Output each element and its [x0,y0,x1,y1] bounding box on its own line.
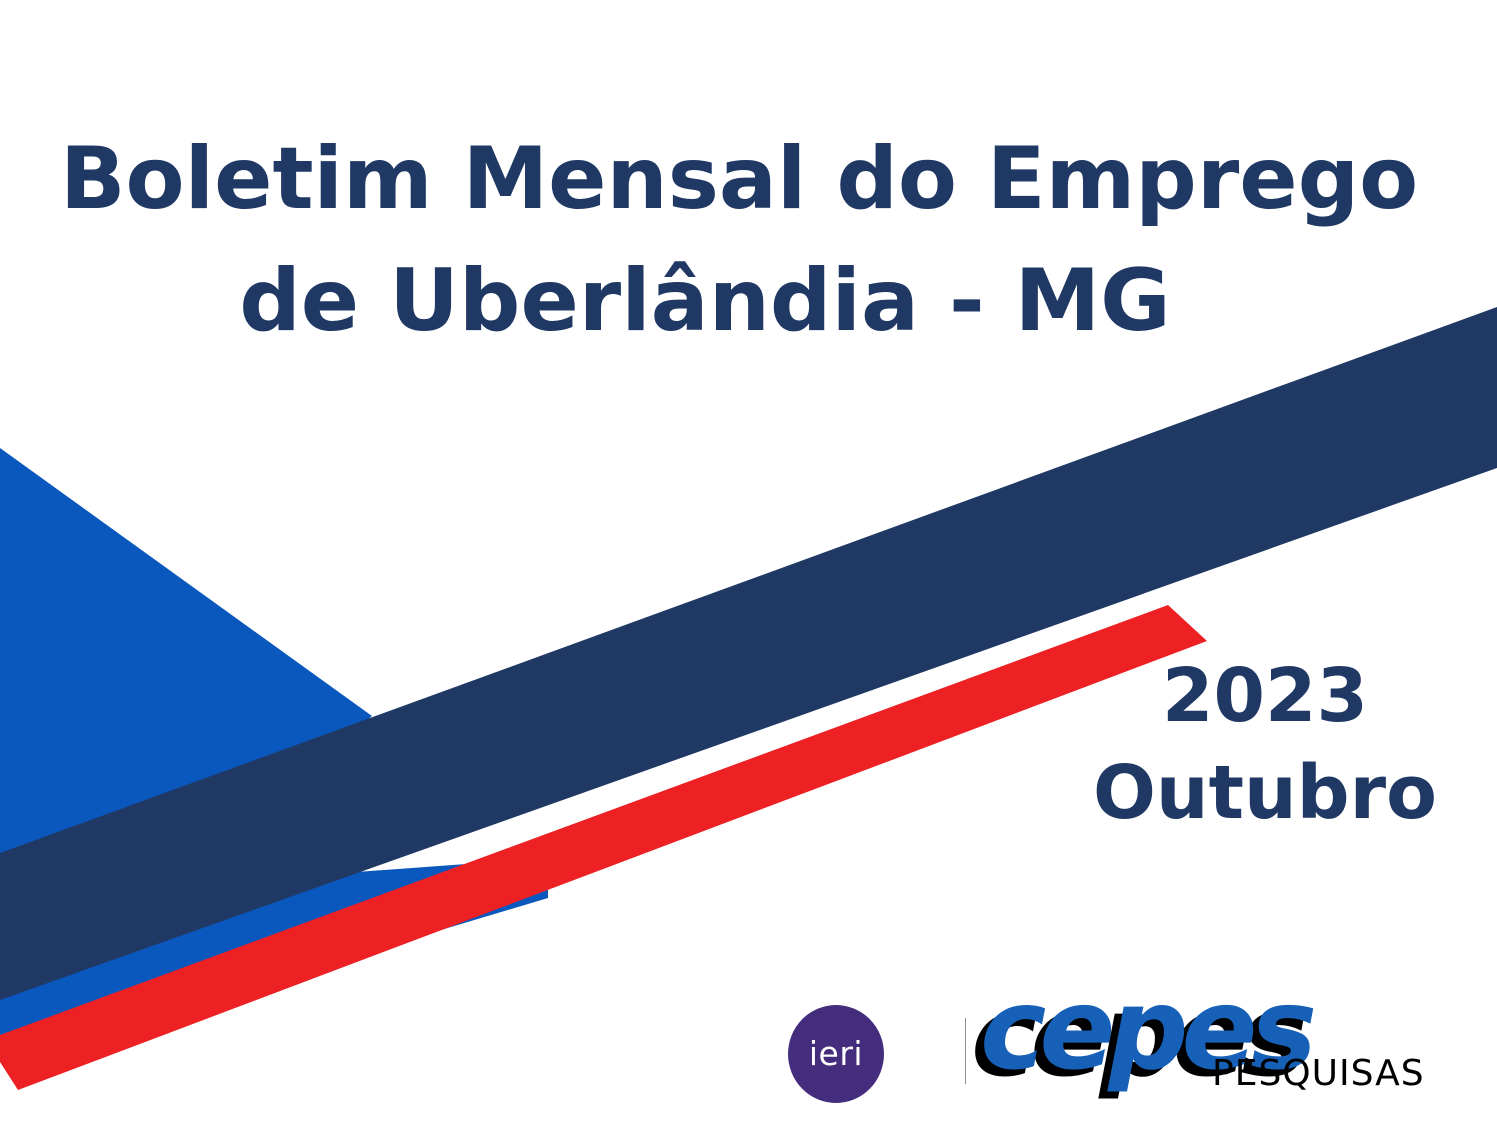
logo-divider [965,1018,966,1084]
footer-logo-group: ieri cepes cepes PESQUISAS [780,975,1480,1123]
ieri-logo-label: ieri [788,1005,884,1103]
ieri-logo: ieri [788,1005,884,1103]
page-title: Boletim Mensal do Emprego de Uberlândia … [60,118,1350,362]
title-line-2: de Uberlândia - MG [60,240,1350,362]
issue-date: 2023 Outubro [1055,648,1475,842]
cover-slide: Boletim Mensal do Emprego de Uberlândia … [0,0,1497,1123]
cepes-logo: cepes cepes PESQUISAS [980,975,1460,1123]
issue-month: Outubro [1055,745,1475,842]
cepes-subtitle: PESQUISAS [1212,1053,1425,1094]
issue-year: 2023 [1055,648,1475,745]
title-line-1: Boletim Mensal do Emprego [60,118,1350,240]
